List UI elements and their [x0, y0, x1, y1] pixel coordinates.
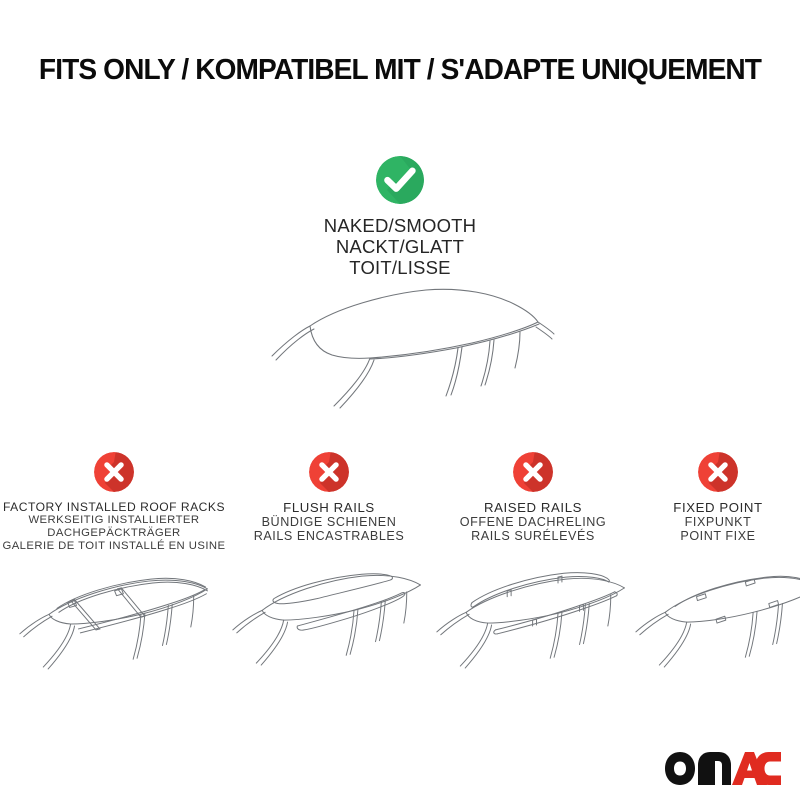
label-line-1: RAISED RAILS	[460, 501, 607, 515]
label-line-3: POINT FIXE	[673, 529, 762, 543]
approved-label-line-1: NAKED/SMOOTH	[324, 215, 476, 236]
label-line-1: FACTORY INSTALLED ROOF RACKS	[2, 501, 225, 514]
label-line-2: OFFENE DACHRELING	[460, 515, 607, 529]
label-line-2: BÜNDIGE SCHIENEN	[254, 515, 405, 529]
incompatible-item-fixed-point: FIXED POINT FIXPUNKT POINT FIXE	[636, 452, 800, 544]
incompatible-roof-types-row: FACTORY INSTALLED ROOF RACKS WERKSEITIG …	[0, 452, 800, 553]
incompatible-item-raised-rails: RAISED RAILS OFFENE DACHRELING RAILS SUR…	[430, 452, 636, 544]
label-line-3: RAILS ENCASTRABLES	[254, 529, 405, 543]
car-roof-raised-rails-illustration	[431, 556, 626, 696]
approved-label-line-2: NACKT/GLATT	[324, 236, 476, 257]
red-cross-circle-icon	[513, 452, 553, 492]
approved-label: NAKED/SMOOTH NACKT/GLATT TOIT/LISSE	[324, 215, 476, 278]
incompatible-label-factory-rack: FACTORY INSTALLED ROOF RACKS WERKSEITIG …	[2, 501, 225, 553]
page-title: FITS ONLY / KOMPATIBEL MIT / S'ADAPTE UN…	[6, 54, 794, 87]
label-line-1: FLUSH RAILS	[254, 501, 405, 515]
label-line-2: WERKSEITIG INSTALLIERTER	[2, 514, 225, 527]
compatibility-infographic: FITS ONLY / KOMPATIBEL MIT / S'ADAPTE UN…	[0, 0, 800, 800]
car-roof-flush-rails-illustration	[227, 556, 424, 696]
incompatible-label-fixed-point: FIXED POINT FIXPUNKT POINT FIXE	[673, 501, 762, 544]
incompatible-label-raised-rails: RAISED RAILS OFFENE DACHRELING RAILS SUR…	[460, 501, 607, 544]
car-roof-smooth-illustration	[258, 282, 558, 417]
incompatible-label-flush-rails: FLUSH RAILS BÜNDIGE SCHIENEN RAILS ENCAS…	[254, 501, 405, 544]
red-cross-circle-icon	[94, 452, 134, 492]
label-line-1: FIXED POINT	[673, 501, 762, 515]
approved-roof-type-block: NAKED/SMOOTH NACKT/GLATT TOIT/LISSE	[0, 156, 800, 278]
incompatible-item-flush-rails: FLUSH RAILS BÜNDIGE SCHIENEN RAILS ENCAS…	[228, 452, 430, 544]
omac-logo	[663, 750, 783, 788]
red-cross-circle-icon	[698, 452, 738, 492]
label-line-3: DACHGEPÄCKTRÄGER	[2, 527, 225, 540]
incompatible-roof-illustrations-row	[0, 556, 800, 696]
label-line-2: FIXPUNKT	[673, 515, 762, 529]
approved-label-line-3: TOIT/LISSE	[324, 257, 476, 278]
green-check-circle-icon	[376, 156, 424, 204]
incompatible-item-factory-rack: FACTORY INSTALLED ROOF RACKS WERKSEITIG …	[0, 452, 228, 553]
car-roof-factory-rack-illustration	[12, 556, 217, 696]
car-roof-fixed-point-illustration	[632, 556, 800, 696]
label-line-3: RAILS SURÉLEVÉS	[460, 529, 607, 543]
red-cross-circle-icon	[309, 452, 349, 492]
label-line-4: GALERIE DE TOIT INSTALLÉ EN USINE	[2, 540, 225, 553]
